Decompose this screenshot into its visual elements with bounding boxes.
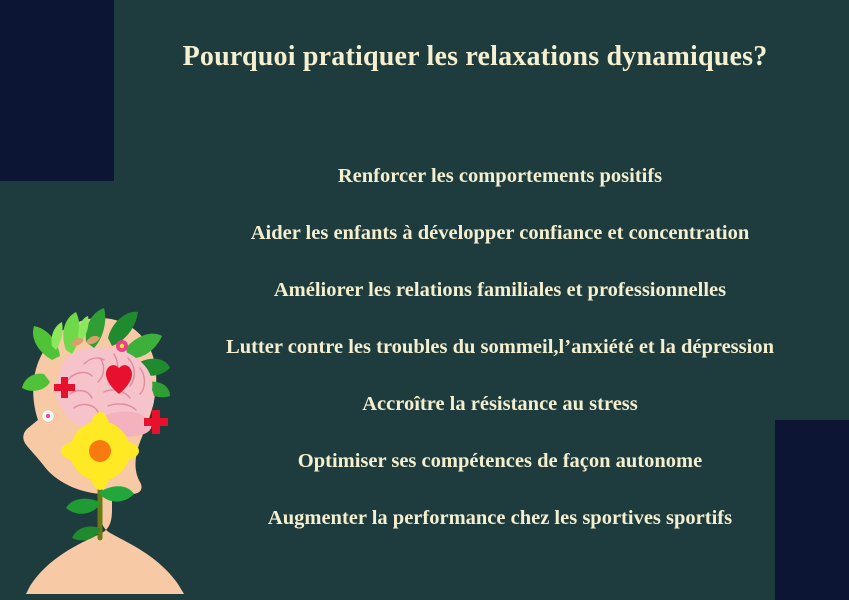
list-item: Optimiser ses compétences de façon auton… bbox=[298, 433, 702, 490]
decorative-block-top-left bbox=[0, 0, 114, 181]
list-item: Lutter contre les troubles du sommeil,l’… bbox=[226, 319, 774, 376]
page-title: Pourquoi pratiquer les relaxations dynam… bbox=[120, 42, 830, 73]
small-flower-icon bbox=[43, 411, 54, 422]
list-item: Augmenter la performance chez les sporti… bbox=[268, 490, 732, 547]
list-item: Accroître la résistance au stress bbox=[362, 376, 638, 433]
flower-center bbox=[89, 440, 111, 462]
slide-canvas: Pourquoi pratiquer les relaxations dynam… bbox=[0, 0, 849, 600]
small-flower-icon bbox=[116, 340, 128, 352]
list-item: Renforcer les comportements positifs bbox=[338, 148, 662, 205]
benefit-list: Renforcer les comportements positifs Aid… bbox=[180, 148, 820, 547]
list-item: Aider les enfants à développer confiance… bbox=[251, 205, 750, 262]
head-with-brain-and-flower-illustration bbox=[8, 296, 198, 596]
list-item: Améliorer les relations familiales et pr… bbox=[274, 262, 726, 319]
